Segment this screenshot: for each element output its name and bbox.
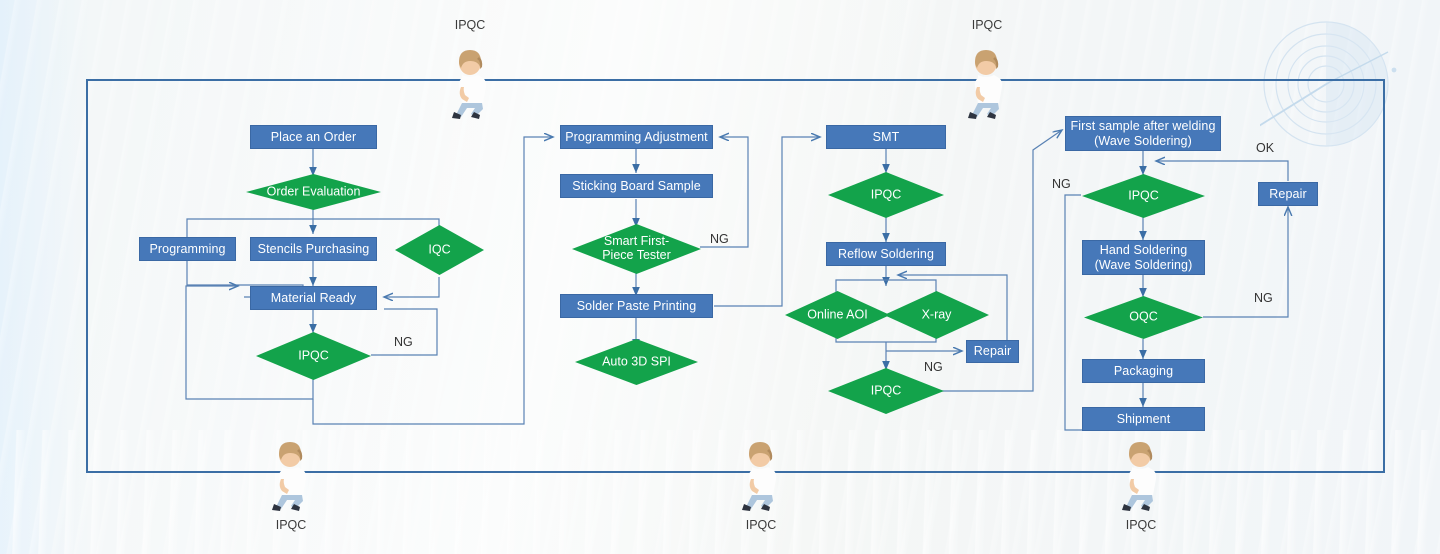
node-smt[interactable]: SMT <box>826 125 946 149</box>
edge-label-ok-repair: OK <box>1256 141 1274 155</box>
node-shipment[interactable]: Shipment <box>1082 407 1205 431</box>
node-sticking-board-sample[interactable]: Sticking Board Sample <box>560 174 713 198</box>
edge-label-ng-material: NG <box>394 335 413 349</box>
node-reflow-soldering[interactable]: Reflow Soldering <box>826 242 946 266</box>
node-first-sample-after-welding-label: First sample after welding (Wave Solderi… <box>1070 119 1215 148</box>
actor-bottom-3-label: IPQC <box>1101 518 1181 532</box>
node-material-ready[interactable]: Material Ready <box>250 286 377 310</box>
node-ipqc-aoi-label: IPQC <box>871 383 902 397</box>
edge-label-ng-wave: NG <box>1052 177 1071 191</box>
actor-bottom-3-icon <box>1118 440 1164 512</box>
node-place-an-order[interactable]: Place an Order <box>250 125 377 149</box>
node-ipqc-smt-label: IPQC <box>871 187 902 201</box>
actor-bottom-2-icon <box>738 440 784 512</box>
node-order-evaluation-label: Order Evaluation <box>267 184 361 198</box>
node-programming-adjustment[interactable]: Programming Adjustment <box>560 125 713 149</box>
flowchart-canvas: Place an Order Order Evaluation Programm… <box>0 0 1440 554</box>
node-first-sample-after-welding[interactable]: First sample after welding (Wave Solderi… <box>1065 116 1221 151</box>
node-hand-soldering-label: Hand Soldering (Wave Soldering) <box>1095 243 1193 272</box>
node-stencils-purchasing[interactable]: Stencils Purchasing <box>250 237 377 261</box>
actor-top-2-label: IPQC <box>947 18 1027 32</box>
node-xray-label: X-ray <box>922 307 952 321</box>
node-programming[interactable]: Programming <box>139 237 236 261</box>
node-online-aoi-label: Online AOI <box>807 307 867 321</box>
node-hand-soldering[interactable]: Hand Soldering (Wave Soldering) <box>1082 240 1205 275</box>
edge-label-ng-aoi: NG <box>924 360 943 374</box>
actor-top-1-label: IPQC <box>430 18 510 32</box>
edge-label-ng-oqc: NG <box>1254 291 1273 305</box>
node-smart-first-piece-tester-label: Smart First-Piece Tester <box>589 234 685 263</box>
node-solder-paste-printing[interactable]: Solder Paste Printing <box>560 294 713 318</box>
node-ipqc-material-label: IPQC <box>298 348 329 362</box>
edge-label-ng-first-piece: NG <box>710 232 729 246</box>
actor-top-1-icon <box>448 48 494 120</box>
node-oqc-label: OQC <box>1129 310 1157 324</box>
node-iqc-label: IQC <box>428 242 450 256</box>
node-repair-smt[interactable]: Repair <box>966 340 1019 363</box>
actor-bottom-1-icon <box>268 440 314 512</box>
node-ipqc-wave-label: IPQC <box>1128 188 1159 202</box>
actor-top-2-icon <box>964 48 1010 120</box>
actor-bottom-1-label: IPQC <box>251 518 331 532</box>
node-auto-3d-spi-label: Auto 3D SPI <box>602 354 671 368</box>
node-packaging[interactable]: Packaging <box>1082 359 1205 383</box>
actor-bottom-2-label: IPQC <box>721 518 801 532</box>
node-repair-wave[interactable]: Repair <box>1258 182 1318 206</box>
